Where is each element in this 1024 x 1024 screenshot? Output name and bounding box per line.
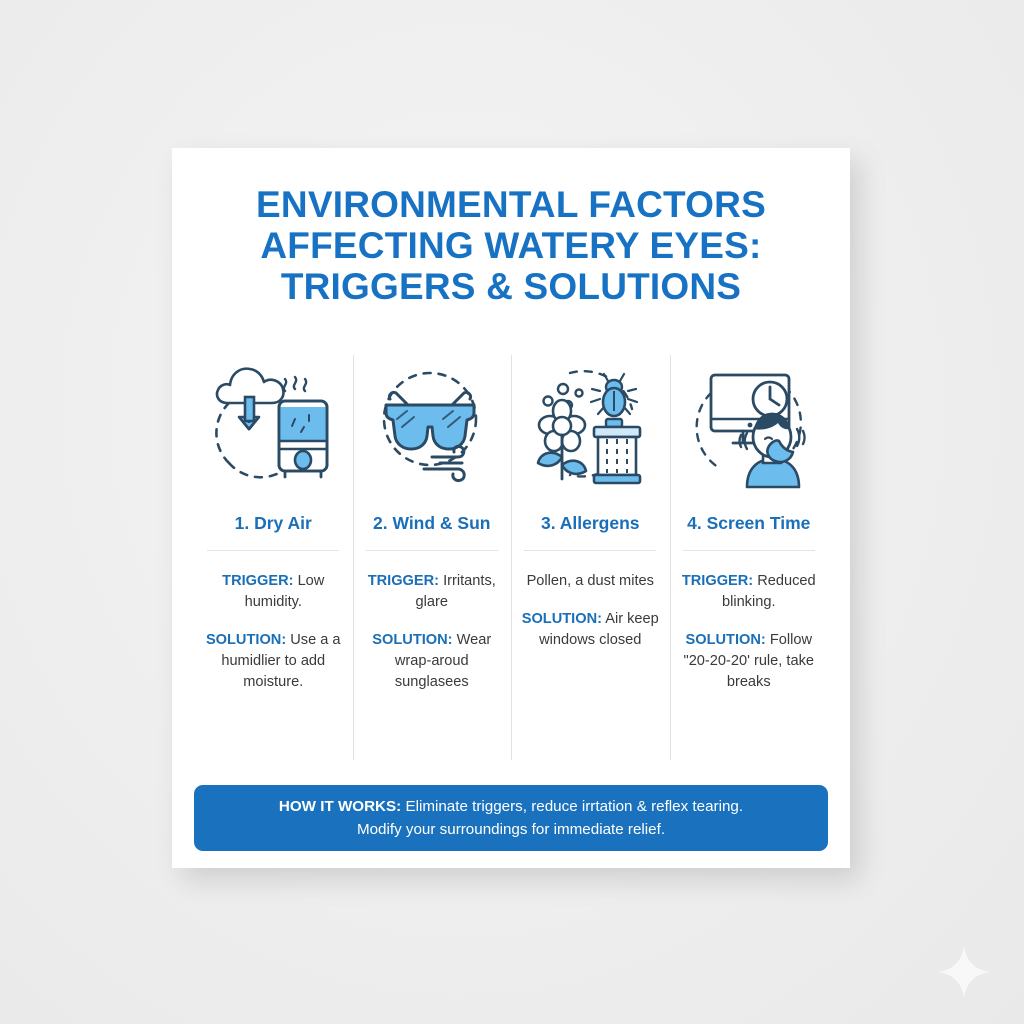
how-it-works-banner: HOW IT WORKS: Eliminate triggers, reduce…	[194, 785, 828, 851]
factor-column-dry-air: 1. Dry Air TRIGGER: Low humidity. SOLUTI…	[194, 355, 353, 693]
trigger-text: TRIGGER: Reduced blinking.	[679, 571, 819, 613]
banner-label: HOW IT WORKS:	[279, 798, 401, 815]
column-heading: 3. Allergens	[541, 513, 640, 534]
page-background: ENVIRONMENTAL FACTORS AFFECTING WATERY E…	[0, 0, 1024, 1024]
solution-text: SOLUTION: Air keep windows closed	[520, 609, 660, 651]
solution-label: SOLUTION:	[206, 632, 286, 648]
column-divider-rule	[683, 550, 815, 551]
trigger-text: TRIGGER: Low humidity.	[203, 571, 343, 613]
banner-line-2: Modify your surroundings for immediate r…	[357, 818, 665, 841]
screen-time-monitor-icon	[678, 355, 820, 495]
column-divider-rule	[366, 550, 498, 551]
trigger-value: Pollen, a dust mites	[527, 573, 654, 589]
page-title: ENVIRONMENTAL FACTORS AFFECTING WATERY E…	[172, 184, 850, 307]
trigger-text: TRIGGER: Irritants, glare	[362, 571, 502, 613]
column-heading: 1. Dry Air	[235, 513, 312, 534]
infographic-card: ENVIRONMENTAL FACTORS AFFECTING WATERY E…	[172, 148, 850, 868]
title-line-3: TRIGGERS & SOLUTIONS	[172, 266, 850, 307]
banner-line-1-text: Eliminate triggers, reduce irrtation & r…	[401, 798, 743, 815]
trigger-label: TRIGGER:	[682, 573, 753, 589]
solution-text: SOLUTION: Use a a humidlier to add moist…	[203, 630, 343, 693]
trigger-label: TRIGGER:	[368, 573, 439, 589]
solution-text: SOLUTION: Follow "20-20-20' rule, take b…	[679, 630, 819, 693]
column-heading: 2. Wind & Sun	[373, 513, 490, 534]
title-line-2: AFFECTING WATERY EYES:	[172, 225, 850, 266]
title-line-1: ENVIRONMENTAL FACTORS	[172, 184, 850, 225]
column-divider-rule	[524, 550, 656, 551]
trigger-label: TRIGGER:	[222, 573, 293, 589]
factor-column-allergens: 3. Allergens Pollen, a dust mites SOLUTI…	[511, 355, 670, 693]
wind-sun-sunglasses-icon	[361, 355, 503, 495]
trigger-text: Pollen, a dust mites	[520, 571, 660, 592]
solution-label: SOLUTION:	[372, 632, 452, 648]
column-divider-rule	[207, 550, 339, 551]
solution-label: SOLUTION:	[522, 611, 602, 627]
dry-air-humidifier-icon	[202, 355, 344, 495]
solution-text: SOLUTION: Wear wrap-aroud sunglasees	[362, 630, 502, 693]
sparkle-icon	[936, 944, 992, 1000]
factor-column-wind-sun: 2. Wind & Sun TRIGGER: Irritants, glare …	[353, 355, 512, 693]
solution-label: SOLUTION:	[686, 632, 766, 648]
column-heading: 4. Screen Time	[687, 513, 810, 534]
factor-columns: 1. Dry Air TRIGGER: Low humidity. SOLUTI…	[194, 355, 828, 693]
factor-column-screen-time: 4. Screen Time TRIGGER: Reduced blinking…	[670, 355, 829, 693]
allergens-pollen-dustmite-icon	[519, 355, 661, 495]
banner-line-1: HOW IT WORKS: Eliminate triggers, reduce…	[279, 795, 743, 818]
